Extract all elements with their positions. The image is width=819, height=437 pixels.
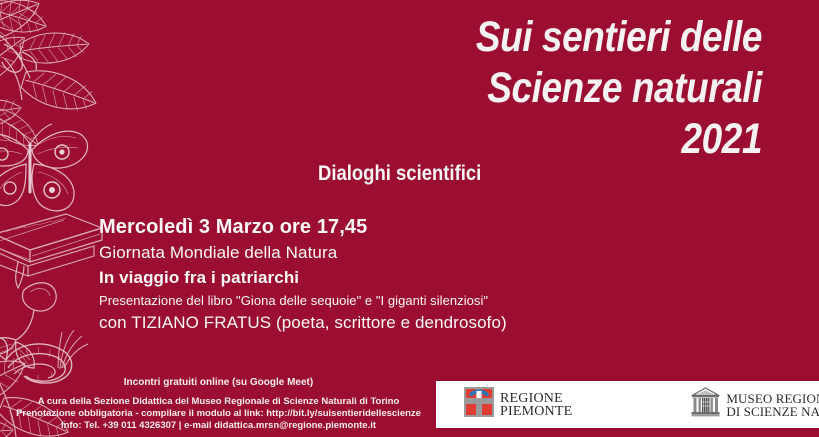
footer-info: Incontri gratuiti online (su Google Meet… <box>0 376 437 432</box>
title-line-1: Sui sentieri delle <box>280 12 762 63</box>
event-title: In viaggio fra i patriarchi <box>99 265 699 290</box>
regione-line-2: PIEMONTE <box>500 405 572 418</box>
event-date: Mercoledì 3 Marzo ore 17,45 <box>99 214 699 240</box>
event-presentation: Presentazione del libro "Giona delle seq… <box>99 290 699 311</box>
logo-regione-piemonte: REGIONE PIEMONTE <box>464 387 572 422</box>
footer-organizer: A cura della Sezione Didattica del Museo… <box>0 396 437 408</box>
event-occasion: Giornata Mondiale della Natura <box>99 240 699 265</box>
museo-wordmark: MUSEO REGIONALE DI SCIENZE NATURALI <box>726 392 819 418</box>
poster-subtitle: Dialoghi scientifici <box>318 162 481 186</box>
museum-building-icon <box>691 387 720 422</box>
event-speaker: con TIZIANO FRATUS (poeta, scrittore e d… <box>99 311 699 335</box>
title-line-2: Scienze naturali <box>280 63 762 114</box>
event-details: Mercoledì 3 Marzo ore 17,45 Giornata Mon… <box>99 214 699 335</box>
museo-line-2: DI SCIENZE NATURALI <box>726 405 819 418</box>
footer-free-note: Incontri gratuiti online (su Google Meet… <box>0 376 437 389</box>
regione-line-1: REGIONE <box>500 392 572 405</box>
title-line-3-year: 2021 <box>280 114 762 165</box>
museo-line-1: MUSEO REGIONALE <box>726 392 819 405</box>
logo-museo-regionale: MUSEO REGIONALE DI SCIENZE NATURALI <box>691 387 819 422</box>
footer-booking-link[interactable]: Prenotazione obbligatoria - compilare il… <box>0 408 437 420</box>
botanical-engraving-decoration <box>0 0 112 437</box>
footer-contact[interactable]: Info: Tel. +39 011 4326307 | e-mail dida… <box>0 420 437 432</box>
regione-piemonte-emblem-icon <box>464 387 494 422</box>
poster-canvas: Sui sentieri delle Scienze naturali 2021… <box>0 0 819 437</box>
poster-title: Sui sentieri delle Scienze naturali 2021 <box>202 12 762 165</box>
logo-bar: REGIONE PIEMONTE <box>436 381 819 428</box>
regione-piemonte-wordmark: REGIONE PIEMONTE <box>500 392 572 418</box>
